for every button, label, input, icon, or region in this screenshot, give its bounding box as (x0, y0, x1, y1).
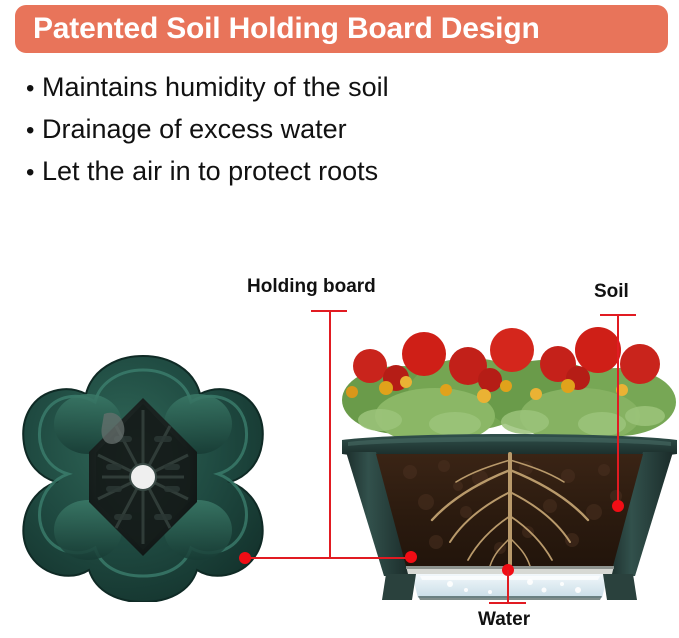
list-item-label: Let the air in to protect roots (42, 156, 378, 186)
holding-board-marker-dot-left (239, 552, 251, 564)
bullet-icon: • (26, 161, 42, 185)
bullet-icon: • (26, 119, 42, 143)
soil-holding-board-illustration (18, 352, 268, 602)
soil-leader-stem (617, 314, 619, 504)
callout-label-water: Water (478, 609, 530, 631)
callout-label-holding-board: Holding board (247, 276, 376, 298)
list-item: • Maintains humidity of the soil (26, 72, 646, 102)
holding-board-leader-branch (245, 557, 411, 559)
holding-board-marker-dot-right (405, 551, 417, 563)
list-item-label: Drainage of excess water (42, 114, 347, 144)
infographic-canvas: Patented Soil Holding Board Design • Mai… (0, 0, 679, 638)
page-title: Patented Soil Holding Board Design (15, 14, 540, 44)
bullet-icon: • (26, 77, 42, 101)
list-item: • Let the air in to protect roots (26, 156, 646, 186)
holding-board-leader-stem (329, 310, 331, 558)
planter-base-shadow (418, 596, 602, 600)
water-surface-shine (420, 576, 600, 580)
water-leader-stem (507, 570, 509, 603)
header-banner: Patented Soil Holding Board Design (15, 5, 668, 53)
feature-list: • Maintains humidity of the soil • Drain… (26, 72, 646, 199)
list-item-label: Maintains humidity of the soil (42, 72, 389, 102)
list-item: • Drainage of excess water (26, 114, 646, 144)
planter-foot-left (382, 574, 416, 600)
callout-label-soil: Soil (594, 281, 629, 303)
planter-foot-right (603, 574, 637, 600)
water-leader-bar (489, 602, 526, 604)
soil-marker-dot (612, 500, 624, 512)
